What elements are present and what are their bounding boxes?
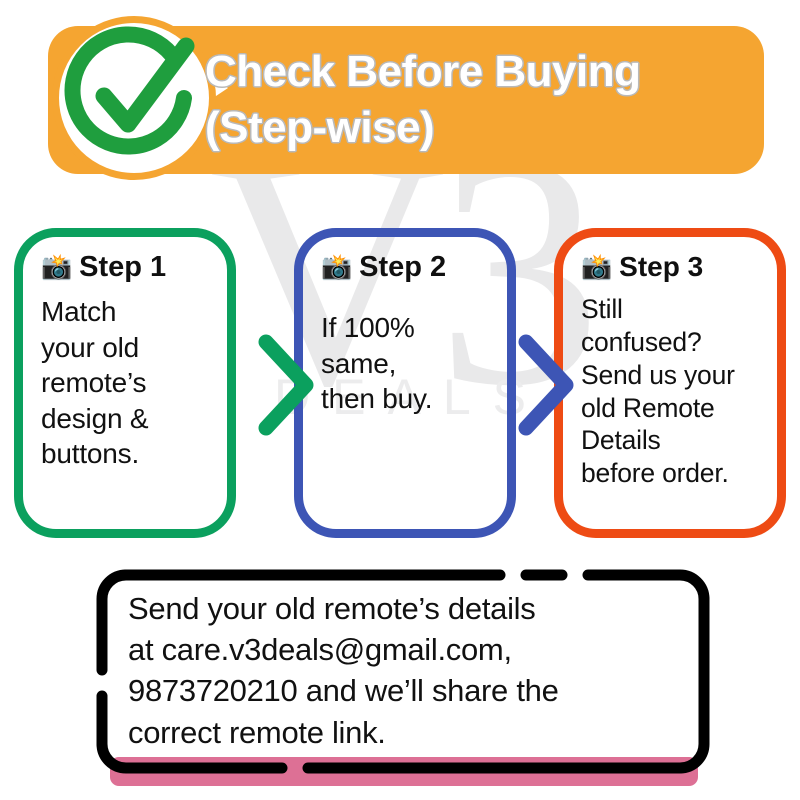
step-card-2-title: Step 2: [359, 253, 446, 282]
step-card-3-header: 📸 Step 3: [581, 253, 763, 281]
callout-line-4: correct remote link.: [128, 712, 698, 753]
callout-text: Send your old remote’s details at care.v…: [128, 588, 698, 753]
page-title-line-2: (Step-wise): [205, 100, 705, 156]
step-card-3[interactable]: 📸 Step 3 Still confused? Send us your ol…: [554, 228, 786, 538]
step-card-2-body: If 100% same, then buy.: [321, 310, 493, 417]
camera-with-flash-icon: 📸: [581, 255, 612, 280]
camera-with-flash-icon: 📸: [321, 255, 352, 280]
green-check-circle-icon: [60, 24, 208, 172]
step-card-1-content: 📸 Step 1 Match your old remote’s design …: [23, 237, 227, 529]
step-body-line: remote’s: [41, 367, 146, 398]
step-body-line: same,: [321, 348, 396, 379]
step-body-line: Send us your: [581, 360, 735, 390]
callout-line-2: at care.v3deals@gmail.com,: [128, 629, 698, 670]
step-card-1-body: Match your old remote’s design & buttons…: [41, 294, 213, 472]
step-card-2-header: 📸 Step 2: [321, 253, 493, 282]
step-body-line: then buy.: [321, 383, 432, 414]
camera-with-flash-icon: 📸: [41, 255, 72, 280]
step-body-line: your old: [41, 332, 139, 363]
step-card-2[interactable]: 📸 Step 2 If 100% same, then buy.: [294, 228, 516, 538]
page-title: Check Before Buying (Step-wise): [205, 44, 705, 157]
step-card-3-content: 📸 Step 3 Still confused? Send us your ol…: [563, 237, 777, 529]
step-body-line: If 100%: [321, 312, 415, 343]
step-body-line: Still: [581, 294, 623, 324]
step-card-3-body: Still confused? Send us your old Remote …: [581, 293, 763, 490]
step-body-line: old Remote: [581, 393, 715, 423]
chevron-right-icon: [252, 330, 322, 440]
step-body-line: buttons.: [41, 438, 139, 469]
step-card-3-title: Step 3: [619, 253, 703, 281]
callout-line-1: Send your old remote’s details: [128, 588, 698, 629]
page-title-line-1: Check Before Buying: [205, 44, 705, 100]
chevron-right-icon: [512, 330, 582, 440]
infographic-canvas: V3 DEALS Check Before Buying (Step-wise)…: [0, 0, 800, 800]
step-card-1-header: 📸 Step 1: [41, 253, 213, 282]
step-body-line: Match: [41, 296, 116, 327]
step-body-line: confused?: [581, 327, 702, 357]
callout-accent-bar: [110, 757, 698, 786]
step-body-line: Details: [581, 425, 661, 455]
callout-line-3: 9873720210 and we’ll share the: [128, 670, 698, 711]
step-card-1-title: Step 1: [79, 253, 166, 282]
step-card-1[interactable]: 📸 Step 1 Match your old remote’s design …: [14, 228, 236, 538]
step-body-line: before order.: [581, 458, 729, 488]
step-body-line: design &: [41, 403, 148, 434]
step-card-2-content: 📸 Step 2 If 100% same, then buy.: [303, 237, 507, 529]
